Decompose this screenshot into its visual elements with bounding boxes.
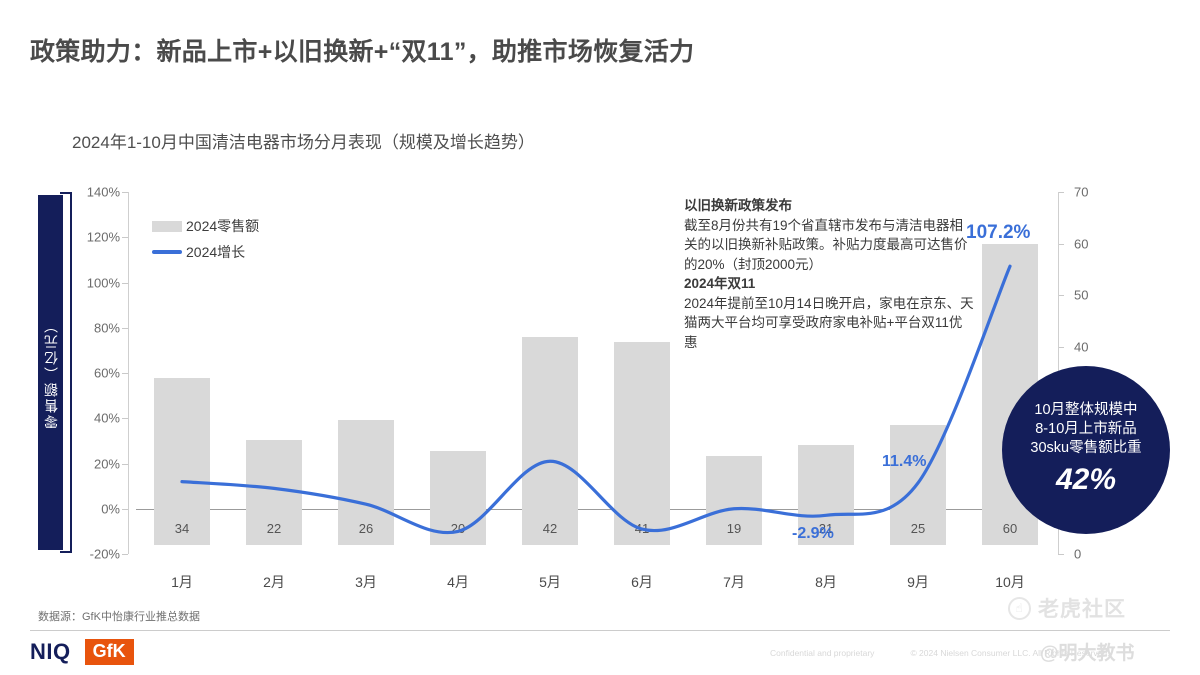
annotation-body-1: 截至8月份共有19个省直辖市发布与清洁电器相关的以旧换新补贴政策。补贴力度最高可…: [684, 216, 974, 275]
footer-logos: NIQ GfK: [30, 639, 134, 665]
y-axis-right-tick: 0: [1074, 547, 1081, 562]
annotation-heading-2: 2024年双11: [684, 274, 974, 294]
y-axis-right-tick: 40: [1074, 340, 1088, 355]
x-axis-label: 1月: [154, 572, 210, 592]
chart-subtitle: 2024年1-10月中国清洁电器市场分月表现（规模及增长趋势）: [72, 128, 535, 153]
slide: 政策助力：新品上市+以旧换新+“双11”，助推市场恢复活力 2024年1-10月…: [0, 0, 1200, 675]
y-axis-right-tick: 60: [1074, 236, 1088, 251]
legend-line-swatch-icon: [152, 250, 182, 254]
callout-line-1: 10月整体规模中: [1034, 401, 1137, 420]
x-axis-label: 5月: [522, 572, 578, 592]
legend-item-line: 2024增长: [152, 242, 259, 262]
legend-bar-swatch-icon: [152, 221, 182, 232]
y-axis-left-tick: 80%: [94, 320, 120, 335]
x-axis-label: 3月: [338, 572, 394, 592]
y-axis-left-tick: 100%: [87, 275, 120, 290]
y-axis-left-line: [128, 192, 129, 554]
watermark-author: @明大教书: [1040, 638, 1135, 665]
x-axis-label: 6月: [614, 572, 670, 592]
y-axis-right-tick: 50: [1074, 288, 1088, 303]
y-axis-left-tick: 120%: [87, 230, 120, 245]
line-point-label: -2.9%: [792, 525, 834, 543]
axis-bracket: [60, 192, 72, 553]
x-axis-label: 2月: [246, 572, 302, 592]
y-axis-left-tick: -20%: [90, 547, 120, 562]
chart-legend: 2024零售额 2024增长: [152, 216, 259, 268]
y-axis-left-tick: 140%: [87, 185, 120, 200]
line-point-label: 107.2%: [966, 222, 1030, 244]
y-axis-left-tick: 0%: [101, 501, 120, 516]
legend-bar-label: 2024零售额: [186, 216, 259, 236]
callout-value: 42%: [1056, 460, 1116, 499]
x-axis-label: 7月: [706, 572, 762, 592]
y-axis-left-tick: 60%: [94, 366, 120, 381]
annotation-body-2: 2024年提前至10月14日晚开启，家电在京东、天猫两大平台均可享受政府家电补贴…: [684, 294, 974, 353]
highlight-callout-circle: 10月整体规模中 8-10月上市新品 30sku零售额比重 42%: [1002, 366, 1170, 534]
chart-area: 零售额（亿元） -20%0%20%40%60%80%100%120%140% 0…: [0, 180, 1200, 580]
line-point-label: 11.4%: [882, 453, 926, 471]
legend-item-bar: 2024零售额: [152, 216, 259, 236]
page-title: 政策助力：新品上市+以旧换新+“双11”，助推市场恢复活力: [30, 32, 694, 68]
x-axis-label: 10月: [982, 572, 1038, 592]
annotation-heading-1: 以旧换新政策发布: [684, 196, 974, 216]
watermark-tiger-community: ☝ 老虎社区: [1008, 593, 1126, 623]
confidential-note: Confidential and proprietary: [770, 648, 874, 658]
data-source-note: 数据源：GfK中怡康行业推总数据: [38, 608, 200, 624]
y-axis-title: 零售额（亿元）: [41, 317, 61, 429]
annotation-block: 以旧换新政策发布 截至8月份共有19个省直辖市发布与清洁电器相关的以旧换新补贴政…: [684, 196, 974, 353]
callout-line-2: 8-10月上市新品: [1035, 420, 1137, 439]
niq-logo: NIQ: [30, 639, 71, 665]
footer-divider: [30, 630, 1170, 631]
y-axis-right-tick: 70: [1074, 185, 1088, 200]
x-axis-label: 4月: [430, 572, 486, 592]
x-axis-label: 9月: [890, 572, 946, 592]
y-axis-left-tick: 20%: [94, 456, 120, 471]
tiger-icon: ☝: [1008, 597, 1031, 620]
y-axis-right-tickmark: [1058, 554, 1064, 555]
callout-line-3: 30sku零售额比重: [1030, 439, 1141, 458]
y-axis-left-tick: 40%: [94, 411, 120, 426]
watermark-1-label: 老虎社区: [1038, 593, 1126, 623]
y-axis-left-tickmark: [122, 554, 128, 555]
x-axis-label: 8月: [798, 572, 854, 592]
legend-line-label: 2024增长: [186, 242, 245, 262]
gfk-logo: GfK: [85, 639, 134, 665]
y-axis-left: -20%0%20%40%60%80%100%120%140%: [72, 192, 128, 554]
x-axis-labels: 1月2月3月4月5月6月7月8月9月10月: [136, 572, 1056, 602]
